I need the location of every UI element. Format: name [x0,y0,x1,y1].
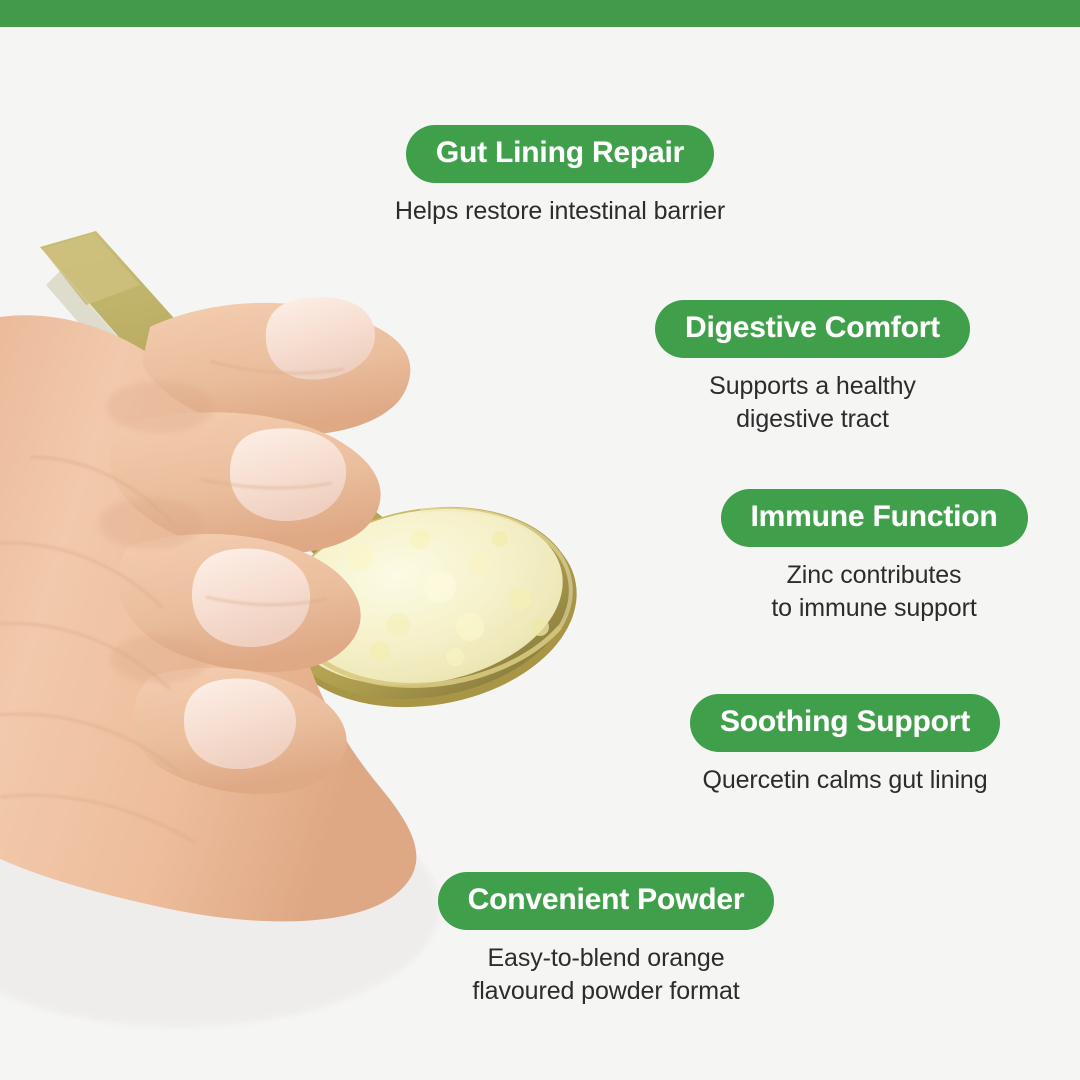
benefit-pill-3[interactable]: Soothing Support [690,694,1000,752]
benefit-item-digestive-comfort: Digestive Comfort Supports a healthy dig… [645,300,980,435]
benefit-caption-2: Zinc contributes to immune support [771,559,976,624]
benefit-item-convenient-powder: Convenient Powder Easy-to-blend orange f… [400,872,812,1007]
top-accent-bar [0,0,1080,27]
hand [0,297,416,921]
benefit-item-immune-function: Immune Function Zinc contributes to immu… [710,489,1038,624]
infographic-canvas: Gut Lining Repair Helps restore intestin… [0,0,1080,1080]
spoon-handle [40,231,420,615]
benefit-pill-1[interactable]: Digestive Comfort [655,300,970,358]
benefit-pill-2[interactable]: Immune Function [721,489,1028,547]
benefit-item-gut-lining-repair: Gut Lining Repair Helps restore intestin… [352,125,768,228]
benefit-pill-0[interactable]: Gut Lining Repair [406,125,714,183]
benefit-caption-0: Helps restore intestinal barrier [395,195,725,228]
benefit-caption-1: Supports a healthy digestive tract [709,370,916,435]
spoon-bowl [264,485,593,730]
benefit-caption-3: Quercetin calms gut lining [702,764,987,797]
benefit-item-soothing-support: Soothing Support Quercetin calms gut lin… [665,694,1025,797]
benefit-pill-4[interactable]: Convenient Powder [438,872,775,930]
benefit-caption-4: Easy-to-blend orange flavoured powder fo… [472,942,739,1007]
